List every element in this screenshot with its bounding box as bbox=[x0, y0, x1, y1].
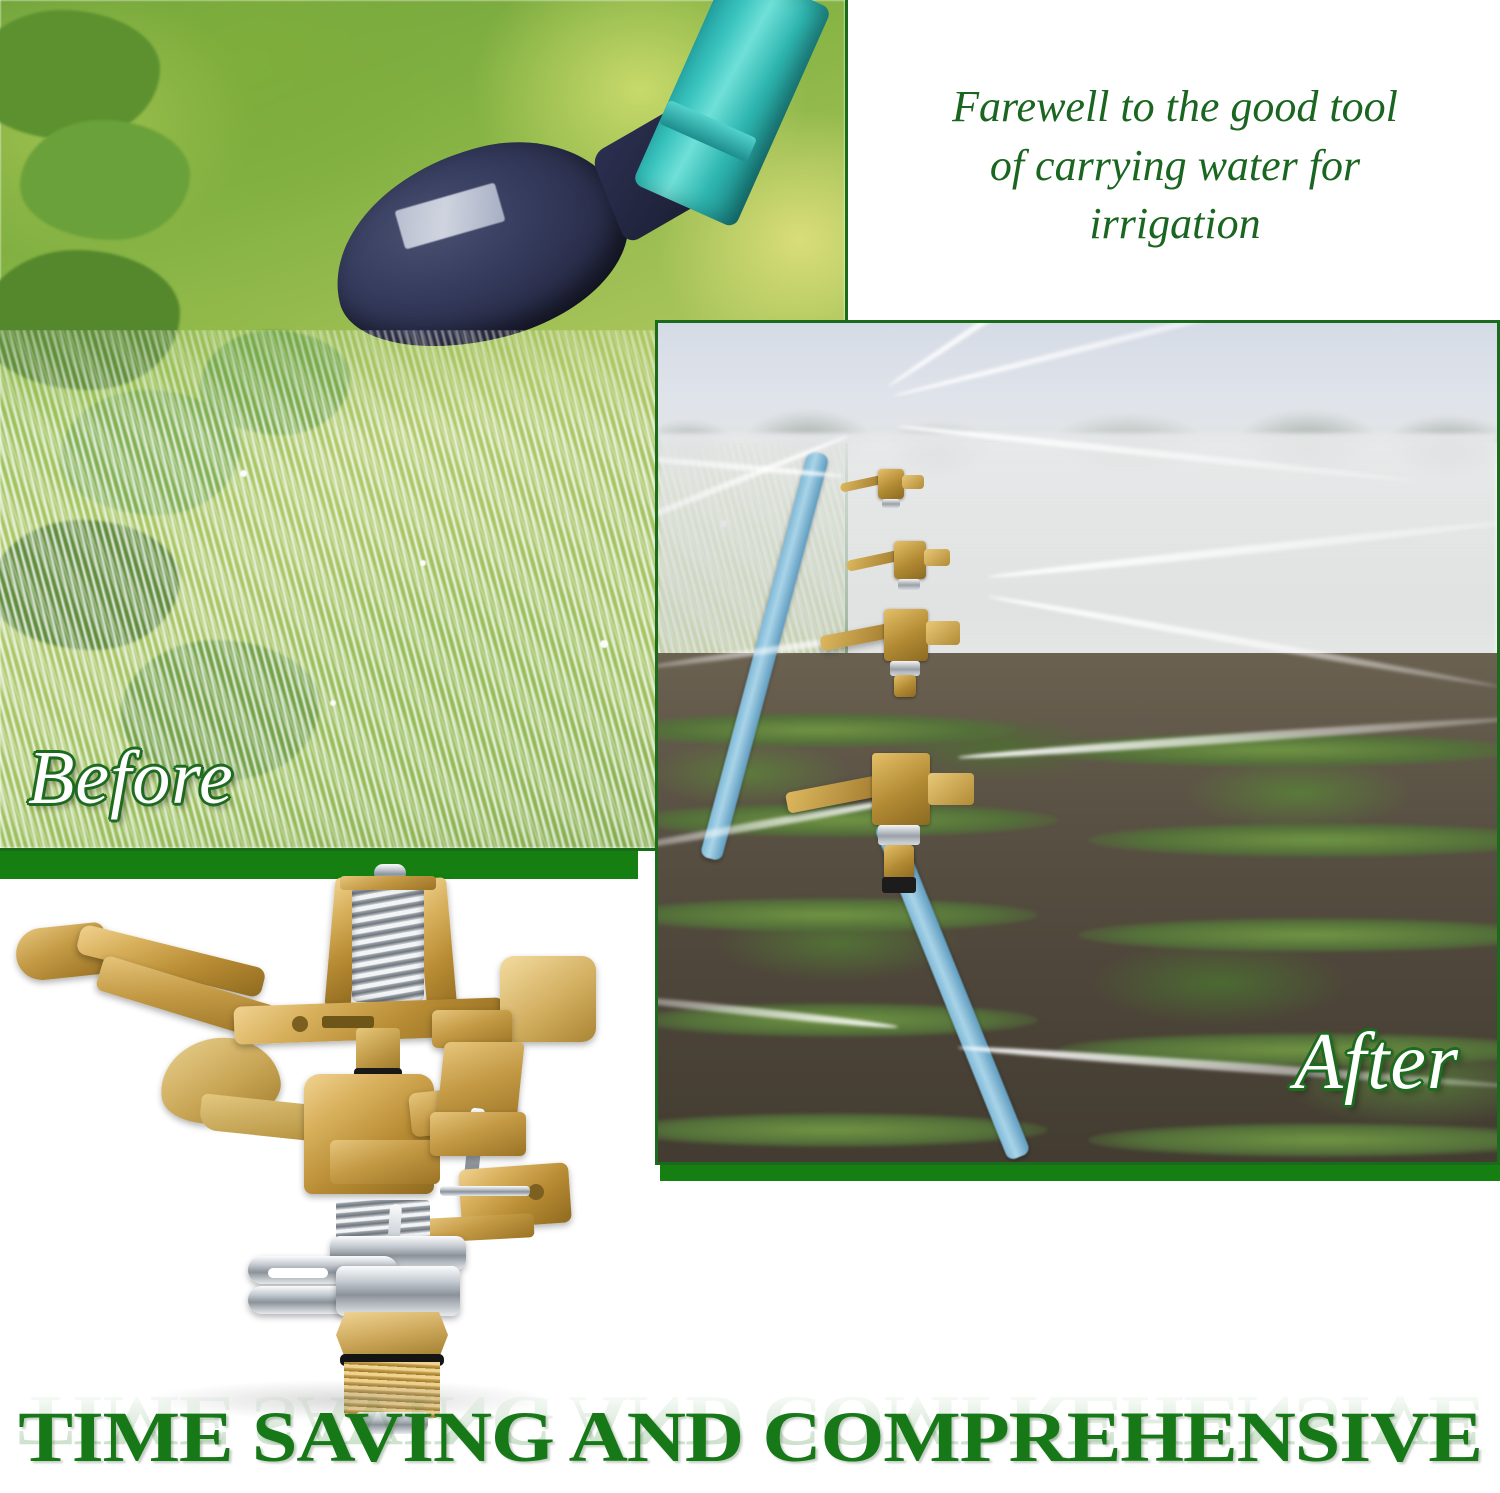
adjust-bracket bbox=[430, 1112, 526, 1156]
before-label: Before bbox=[28, 735, 234, 822]
crop-row bbox=[1088, 1123, 1500, 1157]
impact-sprinkler-head bbox=[786, 749, 986, 899]
headline-line-3: irrigation bbox=[860, 195, 1490, 254]
after-label: After bbox=[1294, 1017, 1459, 1108]
crop-row bbox=[655, 898, 1038, 932]
right-wing-paddle bbox=[500, 956, 596, 1042]
bottom-banner-reflection: TIME SAVING AND COMPREHENSIVE bbox=[0, 1396, 1500, 1462]
impact-spring bbox=[352, 886, 424, 1002]
crop-row bbox=[1078, 918, 1500, 952]
water-droplet bbox=[420, 560, 426, 566]
product-image-sprinkler bbox=[0, 860, 640, 1390]
adjust-screw bbox=[440, 1186, 530, 1196]
crop-row bbox=[655, 713, 1018, 747]
body-lower-flange bbox=[330, 1140, 440, 1184]
bottom-banner: TIME SAVING AND COMPREHENSIVE TIME SAVIN… bbox=[0, 1396, 1500, 1493]
headline-line-2: of carrying water for bbox=[860, 137, 1490, 196]
crop-row bbox=[655, 1113, 1048, 1147]
spring-top-plate bbox=[340, 876, 436, 890]
water-droplet bbox=[330, 700, 336, 706]
crop-row bbox=[1088, 823, 1500, 857]
chrome-body-ring bbox=[336, 1266, 460, 1316]
clamp-gap bbox=[268, 1268, 328, 1278]
after-panel: After bbox=[655, 320, 1500, 1165]
impact-sprinkler-head bbox=[846, 537, 956, 613]
yoke-slot bbox=[322, 1016, 374, 1028]
impact-sprinkler-head bbox=[820, 605, 970, 709]
adjust-screw-hole bbox=[528, 1184, 544, 1200]
hex-nut bbox=[336, 1312, 448, 1358]
after-green-bar bbox=[660, 1165, 1500, 1181]
water-droplet bbox=[600, 640, 608, 648]
headline-text: Farewell to the good tool of carrying wa… bbox=[860, 78, 1490, 254]
water-droplet bbox=[240, 470, 247, 477]
yoke-pivot-hole bbox=[292, 1016, 308, 1032]
impact-sprinkler-head bbox=[840, 465, 930, 525]
headline-line-1: Farewell to the good tool bbox=[860, 78, 1490, 137]
leaf-shape bbox=[20, 120, 190, 240]
